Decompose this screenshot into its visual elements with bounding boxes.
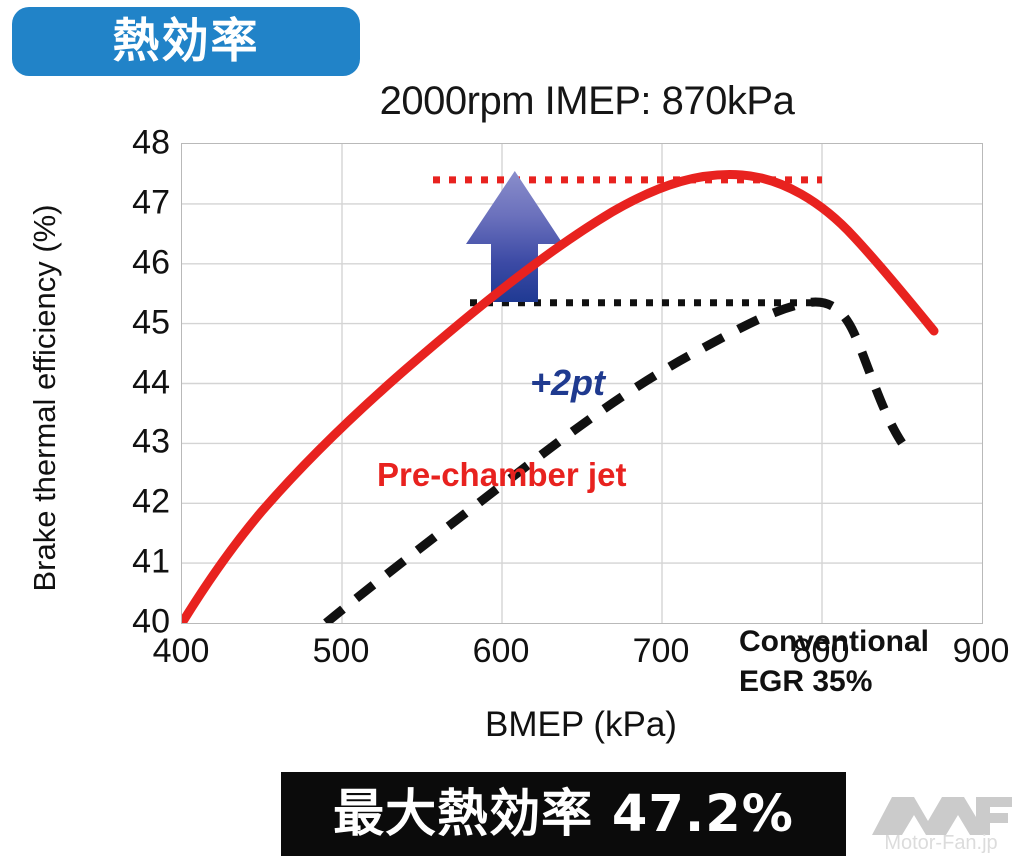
y-tick-42: 42	[110, 483, 170, 522]
watermark-text: Motor-Fan.jp	[866, 832, 1016, 855]
y-tick-47: 47	[110, 184, 170, 223]
x-tick-700: 700	[616, 632, 706, 671]
chart-figure: 2000rpm IMEP: 870kPa Brake thermal effic…	[0, 0, 1024, 770]
y-tick-48: 48	[110, 124, 170, 163]
y-tick-45: 45	[110, 304, 170, 343]
y-tick-43: 43	[110, 423, 170, 462]
mf-logo-shape	[872, 797, 1012, 835]
y-axis-title: Brake thermal efficiency (%)	[27, 138, 63, 658]
x-axis-title: BMEP (kPa)	[181, 705, 981, 745]
conventional-egr-label-line1: Conventional	[739, 622, 929, 662]
pre-chamber-jet-label: Pre-chamber jet	[377, 456, 626, 494]
conventional-egr-label: Conventional EGR 35%	[739, 622, 929, 702]
x-tick-500: 500	[296, 632, 386, 671]
x-tick-900: 900	[936, 632, 1024, 671]
x-tick-400: 400	[136, 632, 226, 671]
y-tick-46: 46	[110, 244, 170, 283]
x-tick-600: 600	[456, 632, 546, 671]
plot-area: Pre-chamber jet +2pt Conventional EGR 35…	[181, 143, 983, 624]
max-thermal-efficiency-banner: 最大熱効率 47.2%	[281, 772, 846, 856]
conventional-egr-label-line2: EGR 35%	[739, 662, 929, 702]
y-tick-44: 44	[110, 364, 170, 403]
y-tick-41: 41	[110, 543, 170, 582]
motor-fan-watermark: Motor-Fan.jp	[866, 787, 1016, 859]
mf-logo-icon	[866, 787, 1016, 842]
max-thermal-efficiency-label: 最大熱効率 47.2%	[333, 789, 794, 840]
gain-label: +2pt	[530, 362, 605, 404]
